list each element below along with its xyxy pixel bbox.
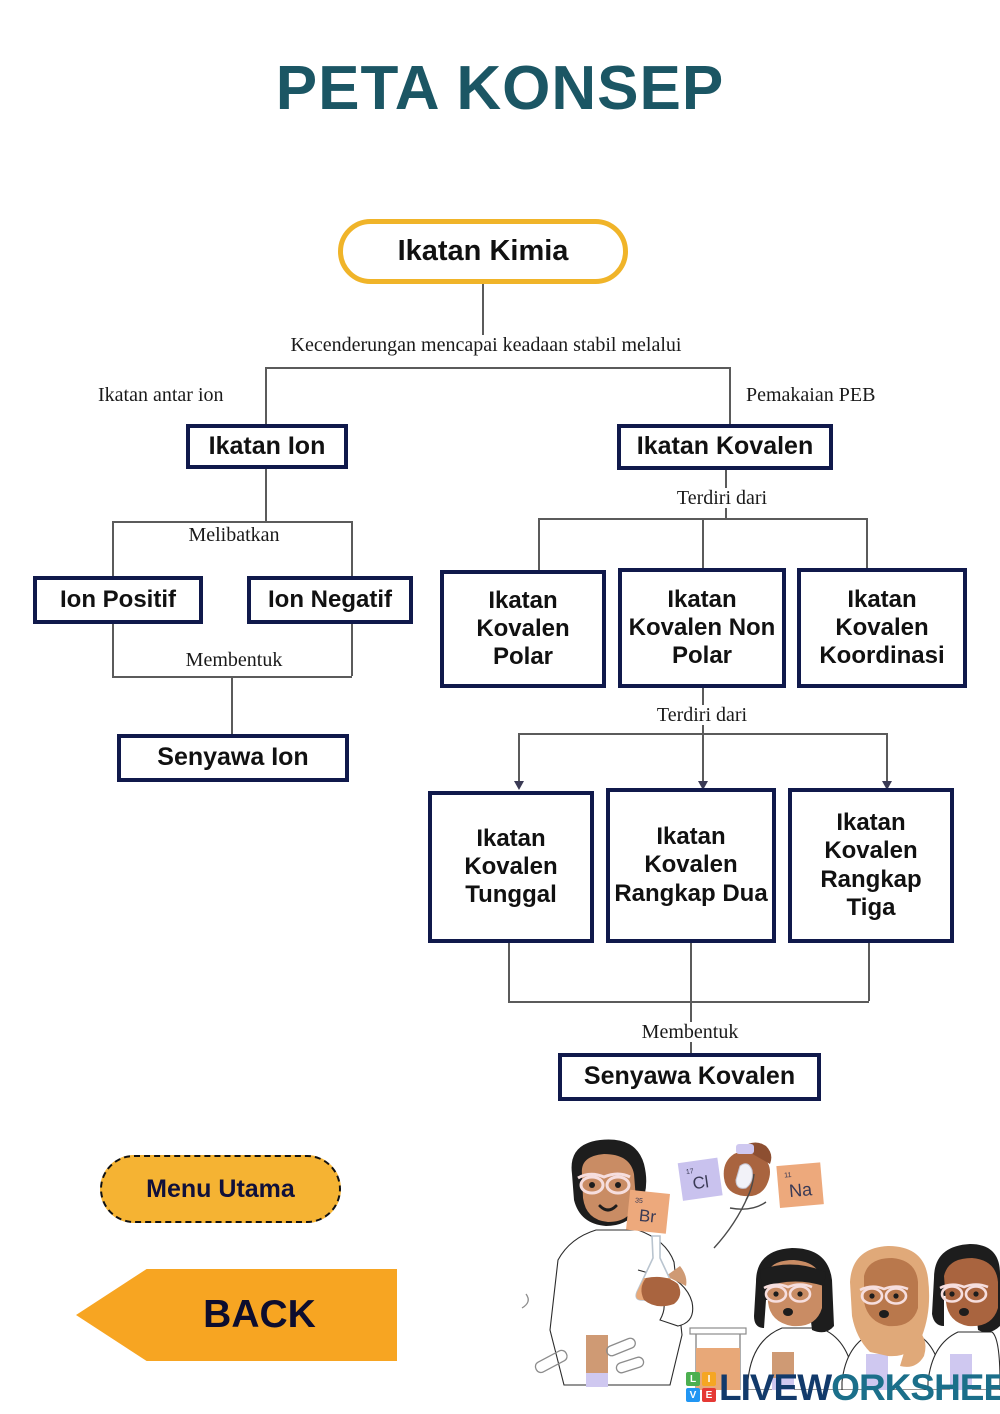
connector-root-bracket xyxy=(265,367,731,369)
connector-ion-bracket xyxy=(112,521,352,523)
edge-label-left-branch: Ikatan antar ion xyxy=(92,385,230,405)
logo-block-v: V xyxy=(686,1388,700,1402)
node-ikatan-kovalen-polar: Ikatan Kovalen Polar xyxy=(440,570,606,688)
edge-label-terdiri-dari-2: Terdiri dari xyxy=(651,705,753,725)
logo-block-i: I xyxy=(702,1372,716,1386)
svg-text:11: 11 xyxy=(784,1172,792,1180)
svg-text:17: 17 xyxy=(686,1168,695,1176)
hand-with-dropper xyxy=(714,1142,771,1248)
connector-senyawa-kovalen-bracket xyxy=(508,1001,869,1003)
teacher-figure xyxy=(550,1140,693,1388)
element-card-na: Na 11 xyxy=(776,1162,823,1208)
node-ion-positif: Ion Positif xyxy=(33,576,203,624)
connector-kovalen-koordinasi-drop xyxy=(866,518,868,570)
node-senyawa-ion: Senyawa Ion xyxy=(117,734,349,782)
connector-ion-pos-drop xyxy=(112,521,114,576)
svg-text:35: 35 xyxy=(635,1197,644,1205)
connector-senyawa-ion-stem xyxy=(231,676,233,734)
connector-rangkap-dua-drop xyxy=(702,733,704,783)
node-ikatan-kovalen-rangkap-tiga: Ikatan Kovalen Rangkap Tiga xyxy=(788,788,954,943)
svg-text:Cl: Cl xyxy=(691,1172,710,1193)
connector-tunggal-drop xyxy=(518,733,520,783)
arrow-head-tunggal xyxy=(514,781,524,790)
edge-label-membentuk-kovalen: Membentuk xyxy=(636,1022,745,1042)
logo-block-l: L xyxy=(686,1372,700,1386)
connector-root-stem xyxy=(482,284,484,336)
connector-tunggal-up xyxy=(508,943,510,1001)
element-card-cl: Cl 17 xyxy=(678,1158,723,1201)
liveworksheets-wordmark: LIVEWORKSHEETS xyxy=(719,1369,1000,1406)
liveworksheets-logo-blocks: L I V E xyxy=(686,1372,716,1402)
connector-kovalen-nonpolar-drop xyxy=(702,518,704,570)
connector-ion-neg-drop xyxy=(351,521,353,576)
back-button[interactable]: BACK xyxy=(76,1269,397,1361)
chemistry-students-illustration: Cl 17 Br 35 Na 11 xyxy=(520,1130,1000,1390)
node-ikatan-kovalen-tunggal: Ikatan Kovalen Tunggal xyxy=(428,791,594,943)
node-senyawa-kovalen: Senyawa Kovalen xyxy=(558,1053,821,1101)
node-ikatan-kovalen-rangkap-dua: Ikatan Kovalen Rangkap Dua xyxy=(606,788,776,943)
edge-label-right-branch: Pemakaian PEB xyxy=(740,385,881,405)
logo-block-e: E xyxy=(702,1388,716,1402)
svg-text:Br: Br xyxy=(638,1206,657,1227)
edge-label-root-to-children: Kecenderungan mencapai keadaan stabil me… xyxy=(285,335,688,355)
connector-kovalen-polar-drop xyxy=(538,518,540,570)
edge-label-membentuk-ion: Membentuk xyxy=(180,650,289,670)
connector-right-branch-drop xyxy=(729,367,731,425)
page-title: PETA KONSEP xyxy=(0,55,1000,123)
wordmark-part-mid: ORKSHEETS xyxy=(831,1367,1000,1408)
connector-rangkap-tiga-drop xyxy=(886,733,888,783)
element-card-br: Br 35 xyxy=(626,1190,670,1234)
connector-ion-stem xyxy=(265,469,267,521)
node-ikatan-kimia: Ikatan Kimia xyxy=(338,219,628,284)
connector-rangkap-dua-up xyxy=(690,943,692,1001)
node-ikatan-ion: Ikatan Ion xyxy=(186,424,348,469)
menu-utama-button[interactable]: Menu Utama xyxy=(100,1155,341,1223)
node-ikatan-kovalen-koordinasi: Ikatan Kovalen Koordinasi xyxy=(797,568,967,688)
node-ikatan-kovalen: Ikatan Kovalen xyxy=(617,424,833,470)
liveworksheets-watermark: L I V E LIVEWORKSHEETS xyxy=(686,1366,1000,1408)
connector-left-branch-drop xyxy=(265,367,267,425)
wordmark-part-dark: LIVEW xyxy=(719,1367,831,1408)
connector-ion-neg-up xyxy=(351,624,353,676)
svg-text:Na: Na xyxy=(788,1179,814,1201)
connector-ion-pos-up xyxy=(112,624,114,676)
edge-label-melibatkan: Melibatkan xyxy=(182,525,285,545)
edge-label-terdiri-dari-1: Terdiri dari xyxy=(671,488,773,508)
node-ion-negatif: Ion Negatif xyxy=(247,576,413,624)
connector-rangkap-tiga-up xyxy=(868,943,870,1001)
concept-map-page: PETA KONSEP Ikatan Kimia Kecenderungan m… xyxy=(0,0,1000,1414)
node-ikatan-kovalen-non-polar: Ikatan Kovalen Non Polar xyxy=(618,568,786,688)
